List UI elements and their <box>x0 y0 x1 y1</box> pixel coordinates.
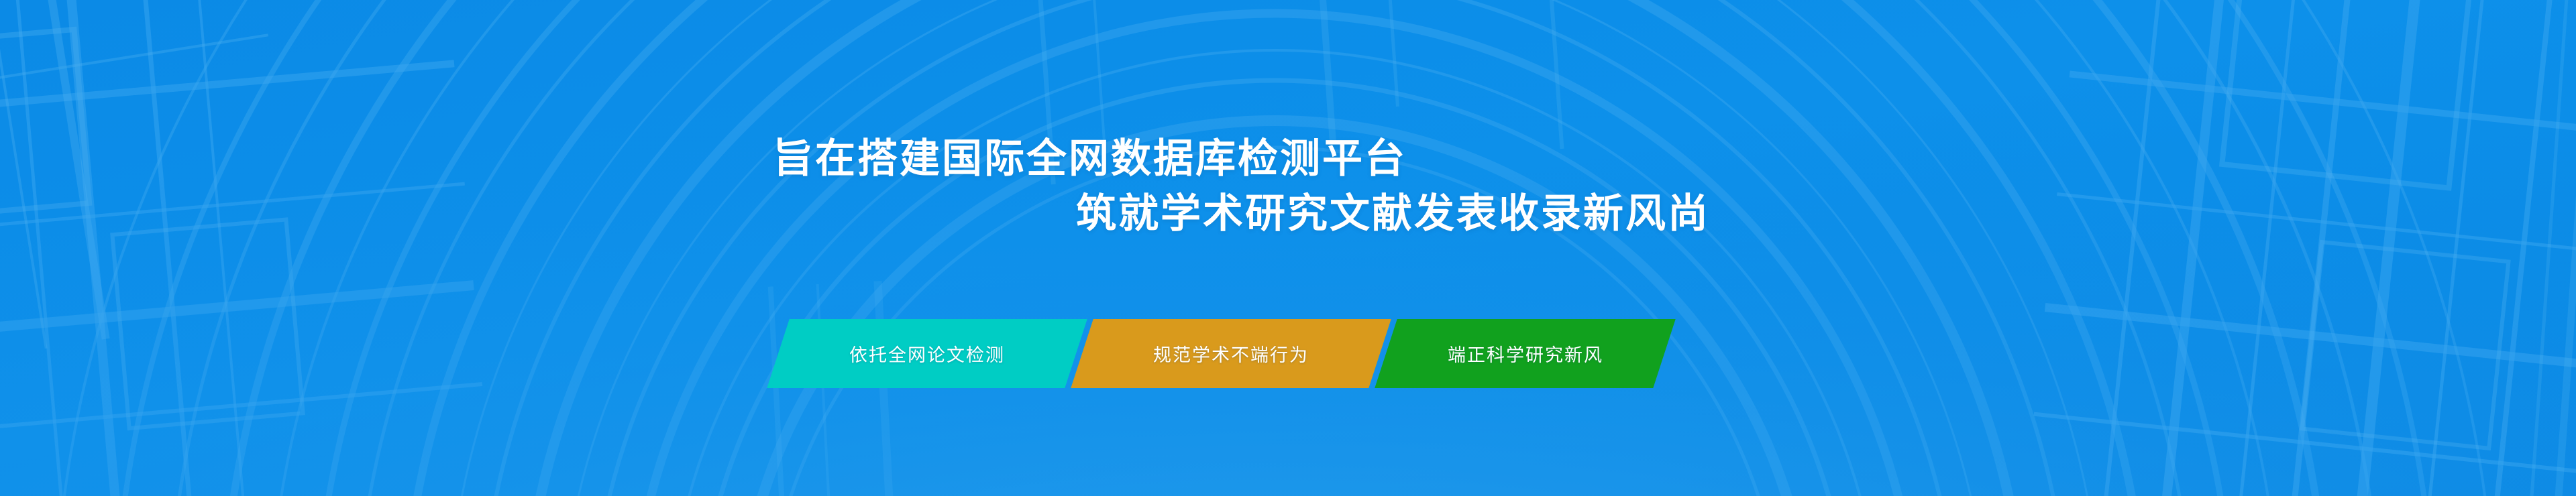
background-decoration <box>0 0 2576 496</box>
feature-tag-research-ethos[interactable]: 端正科学研究新风 <box>1375 319 1675 388</box>
arc-rings <box>54 0 2495 496</box>
headline-block: 旨在搭建国际全网数据库检测平台 筑就学术研究文献发表收录新风尚 <box>0 131 2576 241</box>
feature-tag-detection-label: 依托全网论文检测 <box>849 340 1005 367</box>
headline-line-1: 旨在搭建国际全网数据库检测平台 <box>0 131 2576 186</box>
background-pattern-svg <box>0 0 2576 496</box>
feature-tag-strip: 依托全网论文检测 规范学术不端行为 端正科学研究新风 <box>778 319 1664 388</box>
feature-tag-misconduct-label: 规范学术不端行为 <box>1153 340 1309 367</box>
feature-tag-detection[interactable]: 依托全网论文检测 <box>767 319 1087 388</box>
promo-banner: 旨在搭建国际全网数据库检测平台 筑就学术研究文献发表收录新风尚 依托全网论文检测… <box>0 0 2576 496</box>
feature-tag-research-ethos-label: 端正科学研究新风 <box>1448 340 1603 367</box>
feature-tag-misconduct[interactable]: 规范学术不端行为 <box>1071 319 1391 388</box>
headline-line-2: 筑就学术研究文献发表收录新风尚 <box>0 186 2576 241</box>
